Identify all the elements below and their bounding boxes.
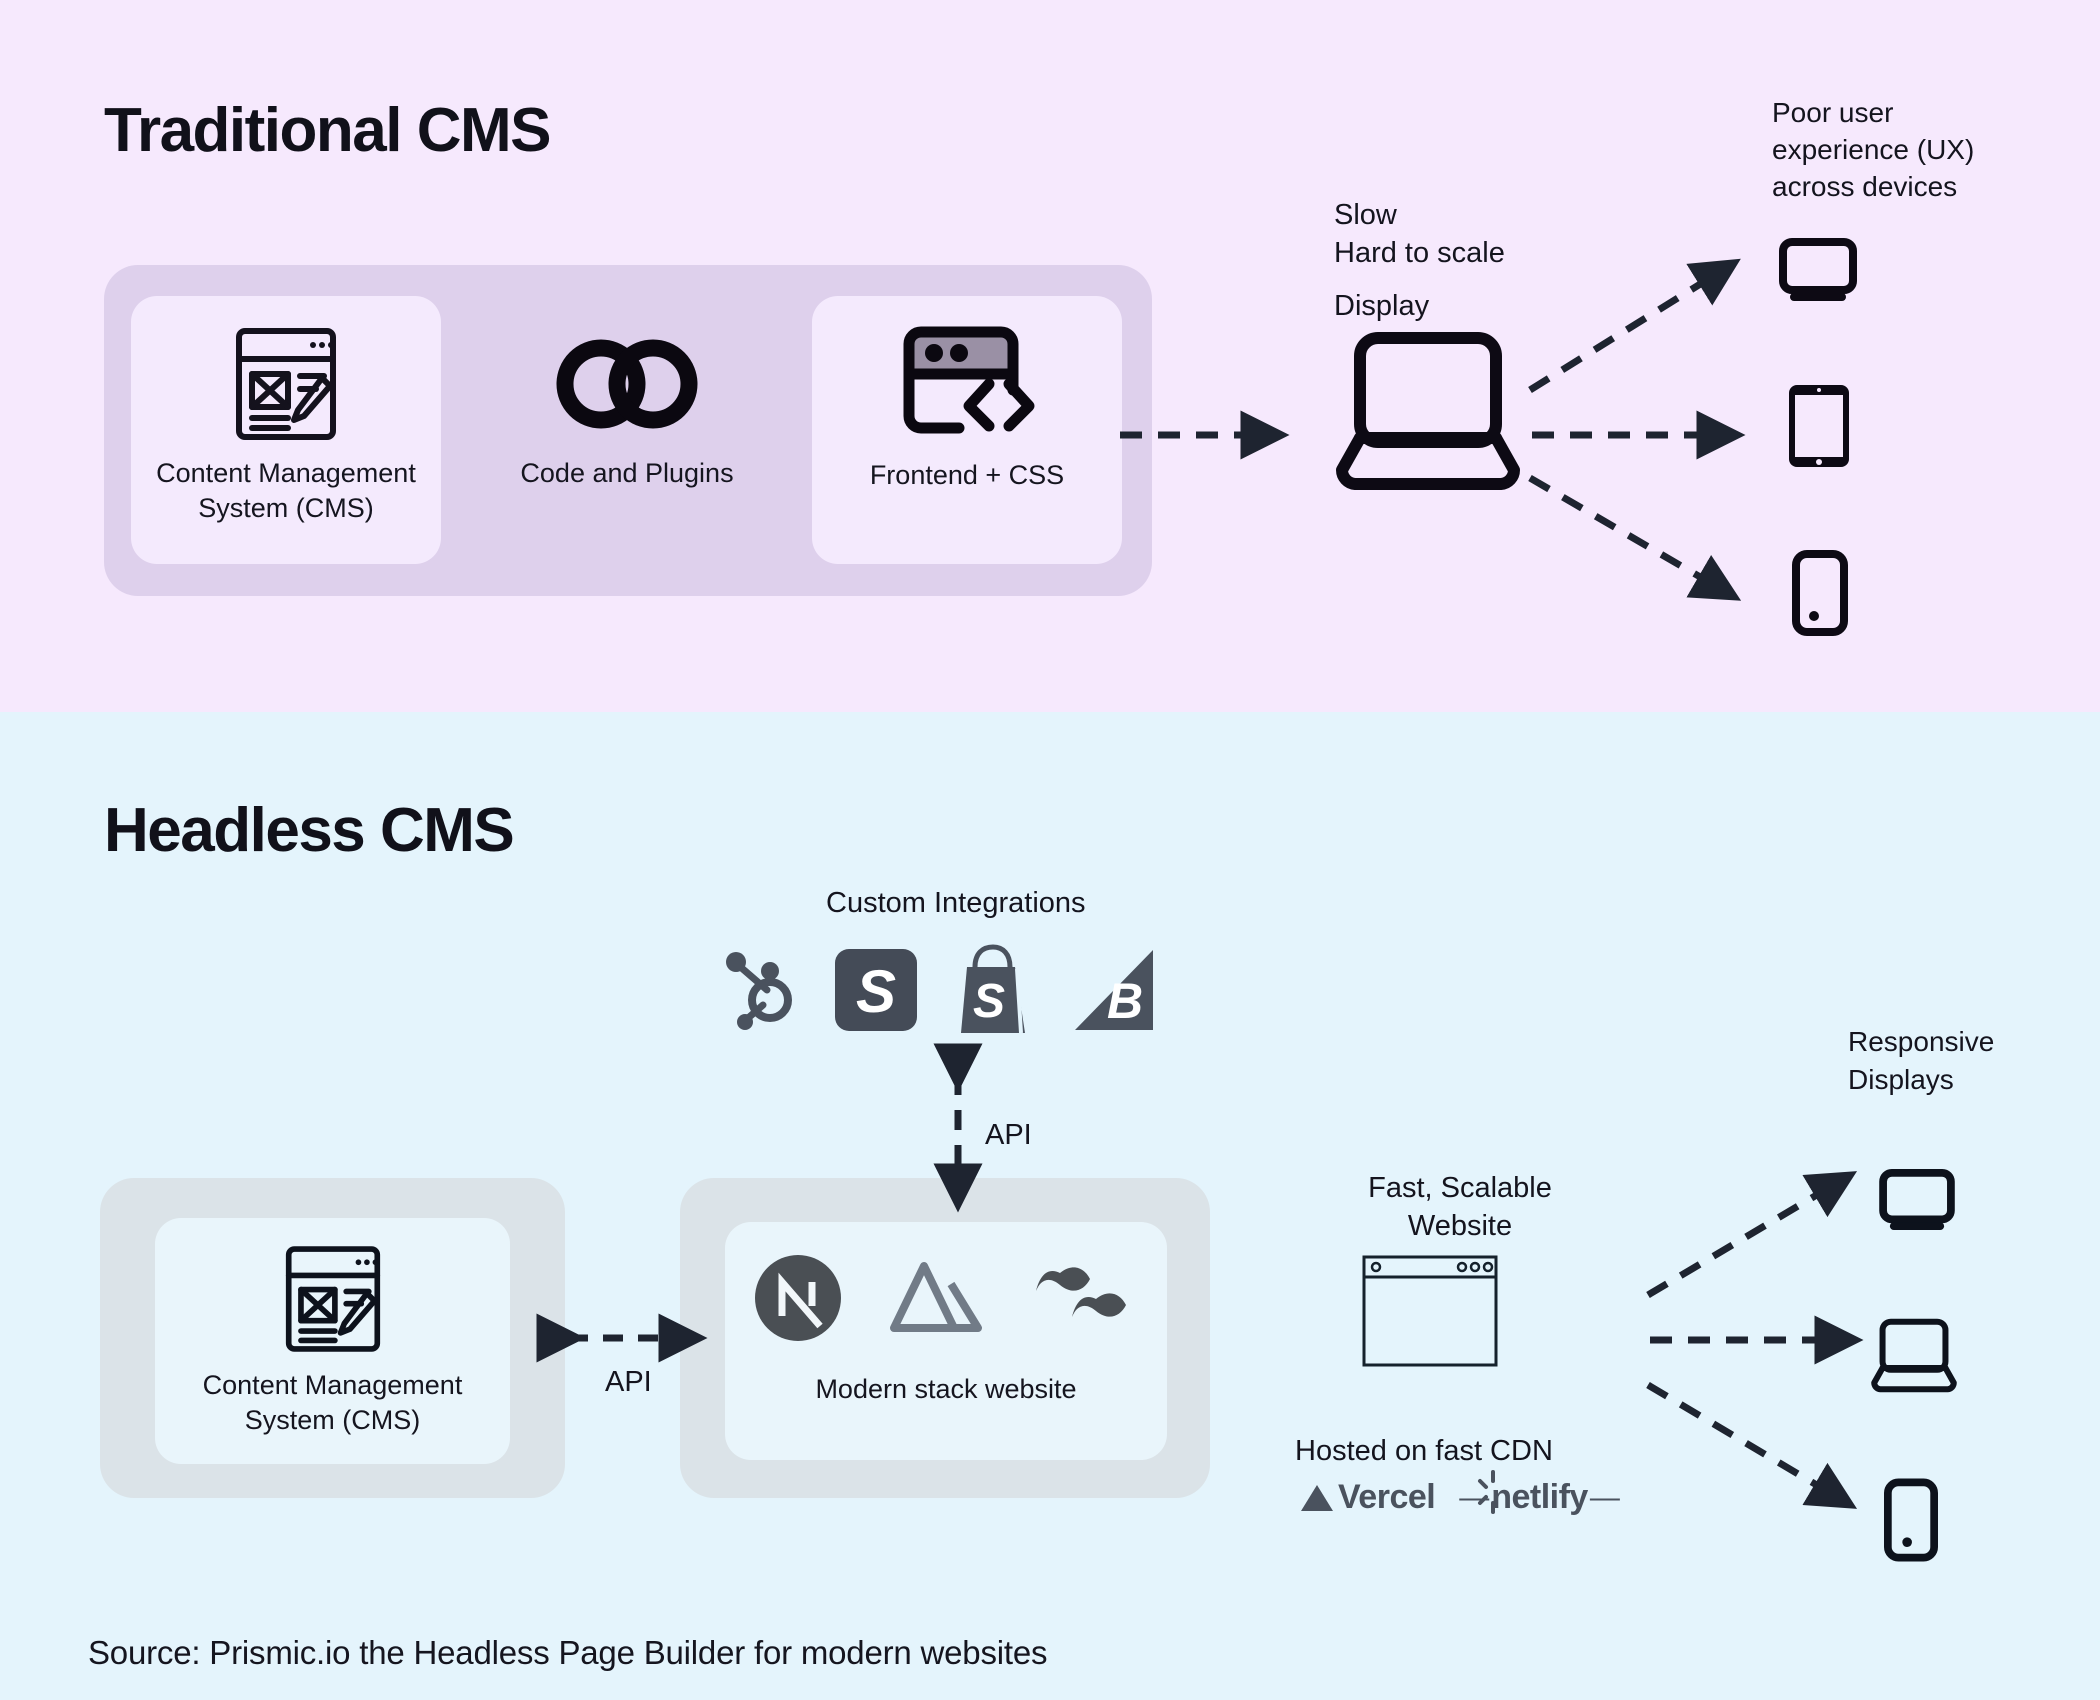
headless-cms-title: Headless CMS (104, 795, 513, 866)
api-vertical-label: API (985, 1116, 1032, 1154)
poor-ux-annotation: Poor user experience (UX) across devices (1772, 95, 1974, 206)
netlify-logo: — netlify — (1459, 1478, 1620, 1517)
monitor-icon (1778, 237, 1858, 301)
headless-cms-card-label: Content Management System (CMS) (203, 1368, 463, 1437)
phone-icon (1884, 1478, 1938, 1562)
bigcommerce-logo: B (1073, 948, 1155, 1032)
browser-window-icon (1362, 1255, 1498, 1367)
code-and-plugins-block: Code and Plugins (480, 296, 774, 564)
cms-editor-icon (284, 1244, 382, 1354)
custom-integrations-label: Custom Integrations (826, 884, 1086, 922)
headless-cms-card: Content Management System (CMS) (155, 1218, 510, 1464)
tablet-icon (1786, 382, 1852, 470)
vercel-wordmark: Vercel (1338, 1478, 1435, 1517)
frontend-css-label: Frontend + CSS (870, 458, 1064, 493)
slow-hard-to-scale-annotation: Slow Hard to scale (1334, 196, 1505, 273)
diagram-root: Traditional CMS Headless CMS (0, 0, 2100, 1700)
nuxt-logo (888, 1258, 988, 1338)
svg-text:B: B (1107, 973, 1143, 1029)
integration-logos-row: S S B (700, 945, 1180, 1035)
source-note: Source: Prismic.io the Headless Page Bui… (88, 1634, 1047, 1672)
traditional-cms-title: Traditional CMS (104, 95, 550, 166)
hubspot-logo (725, 950, 799, 1030)
vercel-logo: Vercel (1300, 1478, 1435, 1517)
svg-text:S: S (973, 975, 1005, 1028)
chain-link-icon (553, 326, 701, 442)
code-and-plugins-label: Code and Plugins (520, 456, 733, 491)
browser-code-icon (897, 322, 1037, 444)
responsive-displays-label: Responsive Displays (1848, 1023, 1994, 1098)
nextjs-logo (754, 1254, 842, 1342)
laptop-icon (1870, 1318, 1958, 1392)
monitor-icon (1878, 1168, 1956, 1230)
netlify-dash-right: — (1590, 1481, 1620, 1515)
api-horizontal-label: API (605, 1363, 652, 1401)
cms-editor-icon (234, 326, 338, 442)
svg-text:S: S (856, 958, 896, 1025)
cdn-providers-row: Vercel — netlify — (1300, 1478, 1620, 1517)
frontend-css-card: Frontend + CSS (812, 296, 1122, 564)
stripe-logo: S (835, 949, 917, 1031)
fast-scalable-website-label: Fast, Scalable Website (1300, 1170, 1620, 1245)
traditional-cms-card-label: Content Management System (CMS) (156, 456, 416, 525)
shopify-logo: S (953, 945, 1037, 1035)
modern-stack-card: Modern stack website (725, 1222, 1167, 1460)
display-annotation: Display (1334, 287, 1429, 325)
hosted-on-fast-cdn-label: Hosted on fast CDN (1295, 1432, 1553, 1470)
modern-stack-logos-row (754, 1254, 1138, 1342)
tailwind-logo (1034, 1265, 1138, 1331)
modern-stack-card-label: Modern stack website (815, 1372, 1076, 1407)
phone-icon (1792, 550, 1848, 636)
traditional-cms-card: Content Management System (CMS) (131, 296, 441, 564)
laptop-icon (1334, 330, 1522, 490)
